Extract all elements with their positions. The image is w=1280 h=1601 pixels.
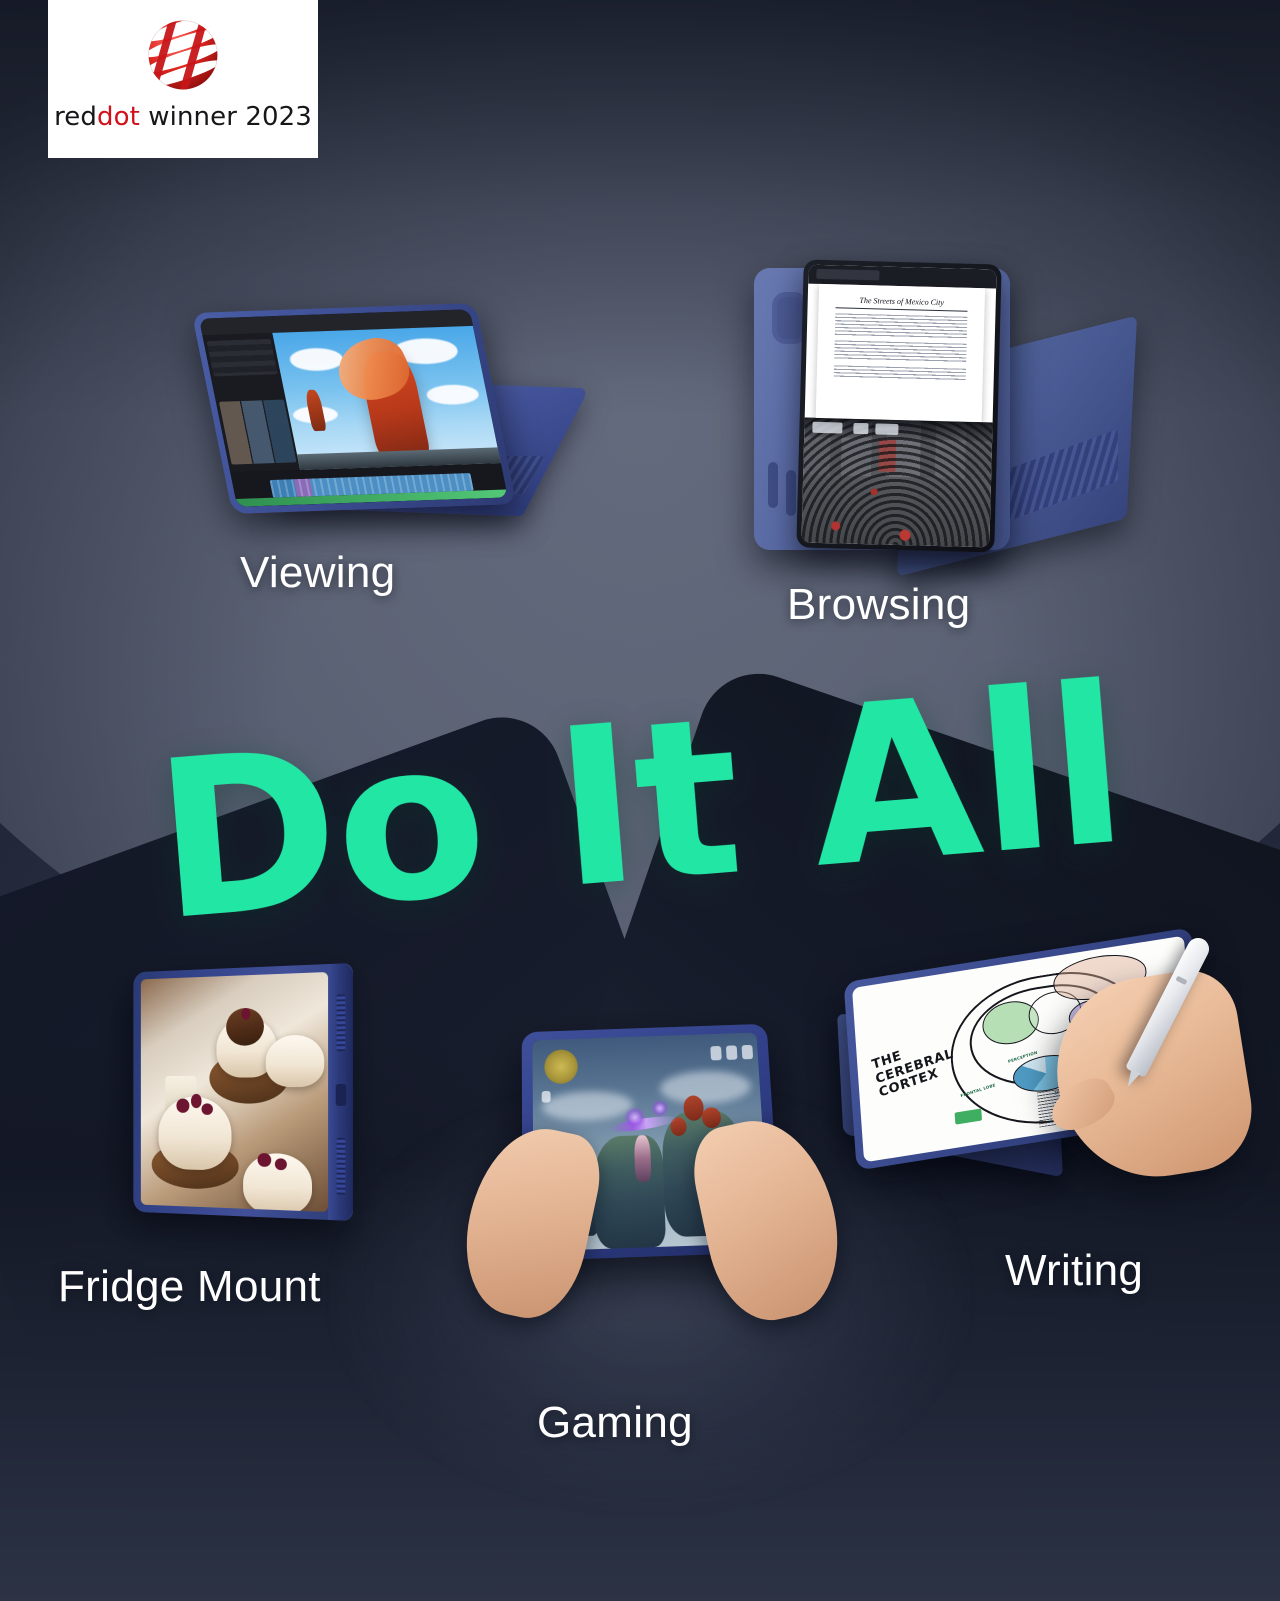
article-paragraph <box>835 313 967 338</box>
browser-tab[interactable] <box>816 269 880 281</box>
speaker-grill <box>337 994 346 1051</box>
fridge-tablet-body <box>133 963 353 1221</box>
browsing-tablet-body: The Streets of Mexico City <box>796 259 1001 552</box>
article-paragraph <box>834 365 966 380</box>
note-title: THE CEREBRAL CORTEX <box>871 1033 959 1101</box>
game-hud-icon[interactable] <box>741 1045 753 1059</box>
toolbar-button[interactable] <box>812 422 842 434</box>
game-hud-icon[interactable] <box>710 1046 722 1061</box>
reddot-text-red: red <box>54 102 97 132</box>
label-browsing: Browsing <box>787 580 970 630</box>
usb-c-port <box>336 1084 347 1106</box>
toolbar-button[interactable] <box>853 423 868 435</box>
reddot-award-badge: reddot winner 2023 <box>48 0 318 158</box>
berry <box>176 1099 189 1113</box>
browsing-screen: The Streets of Mexico City <box>801 265 996 548</box>
game-hud-icon[interactable] <box>726 1045 738 1060</box>
reddot-badge-text: reddot winner 2023 <box>54 102 312 132</box>
reddot-text-dot: dot <box>97 102 140 132</box>
fridge-screen <box>141 972 328 1212</box>
dessert-photo <box>141 972 328 1212</box>
game-island <box>593 1134 666 1249</box>
poster-stage: reddot winner 2023 <box>0 0 1280 1601</box>
stylus-band <box>1175 976 1187 985</box>
tablet-side-edge <box>328 963 353 1221</box>
video-editor-preview <box>273 326 501 470</box>
device-viewing <box>214 306 566 524</box>
device-browsing: The Streets of Mexico City <box>752 258 1100 558</box>
label-gaming: Gaming <box>537 1398 693 1448</box>
cake-right <box>266 1034 325 1087</box>
berry <box>241 1008 250 1020</box>
case-vent-slot <box>786 470 796 516</box>
device-gaming <box>522 1023 774 1255</box>
viewing-tablet-body <box>192 303 517 514</box>
label-viewing: Viewing <box>240 548 395 598</box>
article-paragraph <box>834 340 966 363</box>
video-editor-inspector <box>207 339 278 377</box>
game-hud-icon[interactable] <box>542 1090 551 1103</box>
berry <box>275 1158 287 1170</box>
toolbar-button[interactable] <box>876 423 899 435</box>
reddot-text-rest: winner 2023 <box>140 102 312 132</box>
speaker-grill <box>337 1138 346 1195</box>
device-writing: THE CEREBRAL CORTEX FRONTAL LOBE PERCEPT… <box>836 947 1240 1177</box>
reddot-sphere-icon <box>140 12 226 98</box>
label-fridge-mount: Fridge Mount <box>58 1262 321 1312</box>
cloud-shape <box>288 347 345 371</box>
cloud-shape <box>425 384 481 405</box>
label-writing: Writing <box>1005 1246 1143 1296</box>
browsing-article-card: The Streets of Mexico City <box>816 284 985 422</box>
game-spark <box>651 1099 668 1118</box>
viewing-screen <box>199 309 508 507</box>
video-editor-media-thumbnails <box>219 399 297 464</box>
device-fridge-mount <box>108 963 353 1221</box>
article-title: The Streets of Mexico City <box>836 296 968 311</box>
case-vent-slot <box>768 462 778 508</box>
note-green-sticker <box>955 1109 982 1125</box>
